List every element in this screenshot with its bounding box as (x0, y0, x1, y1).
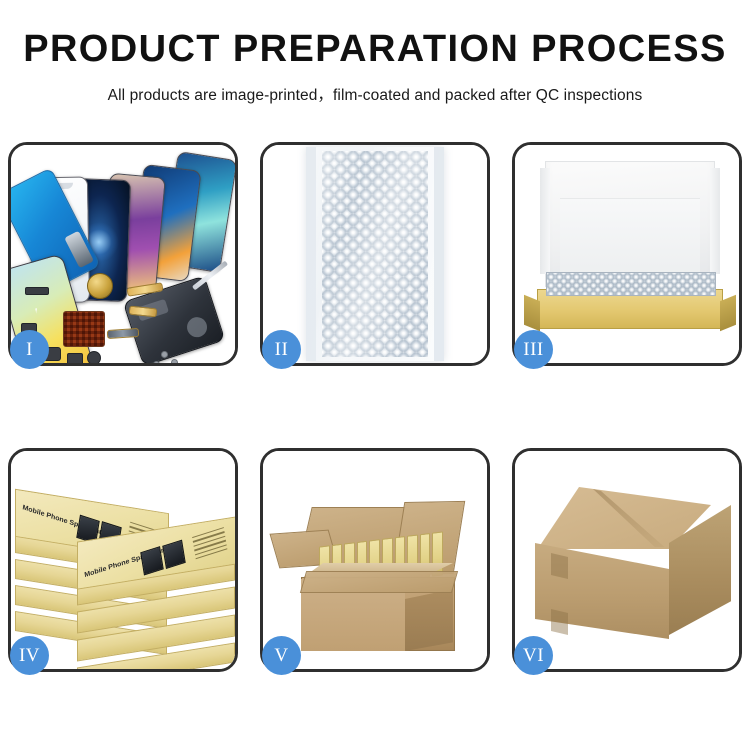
step-badge-6: VI (514, 636, 553, 675)
step-3-image (515, 145, 739, 363)
process-step-card-4: Mobile Phone Spare Parts Mobile Phone Sp… (8, 448, 238, 672)
antenna-strip-icon (25, 287, 49, 295)
step-badge-1: I (10, 330, 49, 369)
step-1-image (11, 145, 235, 363)
screw-icon (161, 351, 168, 358)
bubble-wrapped-contents (546, 272, 716, 296)
page-subtitle: All products are image-printed，film-coat… (0, 83, 750, 105)
step-badge-3: III (514, 330, 553, 369)
step-4-image: Mobile Phone Spare Parts Mobile Phone Sp… (11, 451, 235, 669)
step-badge-2: II (262, 330, 301, 369)
step-badge-5: V (262, 636, 301, 675)
white-box-lid (545, 161, 715, 287)
process-step-card-5: V (260, 448, 490, 672)
step-5-image (263, 451, 487, 669)
screw-icon (171, 359, 178, 363)
ribbon-cable-icon (107, 328, 140, 339)
screw-icon (153, 361, 160, 363)
process-step-card-6: VI (512, 448, 742, 672)
process-step-card-3: III (512, 142, 742, 366)
step-badge-4: IV (10, 636, 49, 675)
button-icon (87, 351, 101, 363)
kraft-tray (537, 289, 723, 329)
sim-tray-icon (67, 353, 83, 363)
tray-left-wall (524, 295, 540, 331)
bubble-wrap-scene (263, 145, 487, 363)
stacked-boxes-scene: Mobile Phone Spare Parts Mobile Phone Sp… (11, 451, 235, 669)
flex-cable-icon (127, 282, 164, 297)
box-stack: Mobile Phone Spare Parts Mobile Phone Sp… (13, 475, 235, 669)
sealed-carton-scene (515, 451, 739, 669)
page-header: PRODUCT PREPARATION PROCESS All products… (0, 0, 750, 105)
carton-flap-front (300, 571, 458, 593)
process-step-card-2: II (260, 142, 490, 366)
speaker-coil-icon (87, 273, 113, 299)
bubble-wrap-pouch (306, 147, 444, 361)
tray-right-wall (720, 295, 736, 331)
phones-and-parts-scene (11, 145, 235, 363)
carton-tape-mark (551, 553, 568, 579)
step-2-image (263, 145, 487, 363)
bubble-texture (322, 151, 428, 357)
open-carton-scene (263, 451, 487, 669)
open-kraft-tray-scene (515, 145, 739, 363)
flex-cable-icon (129, 306, 158, 318)
carton-side-face (405, 589, 453, 651)
process-step-card-1: I (8, 142, 238, 366)
process-steps-grid: I II (8, 142, 742, 672)
carton-tape-mark (551, 609, 568, 635)
step-6-image (515, 451, 739, 669)
copper-pad-icon (63, 311, 105, 347)
page-title: PRODUCT PREPARATION PROCESS (0, 30, 750, 68)
